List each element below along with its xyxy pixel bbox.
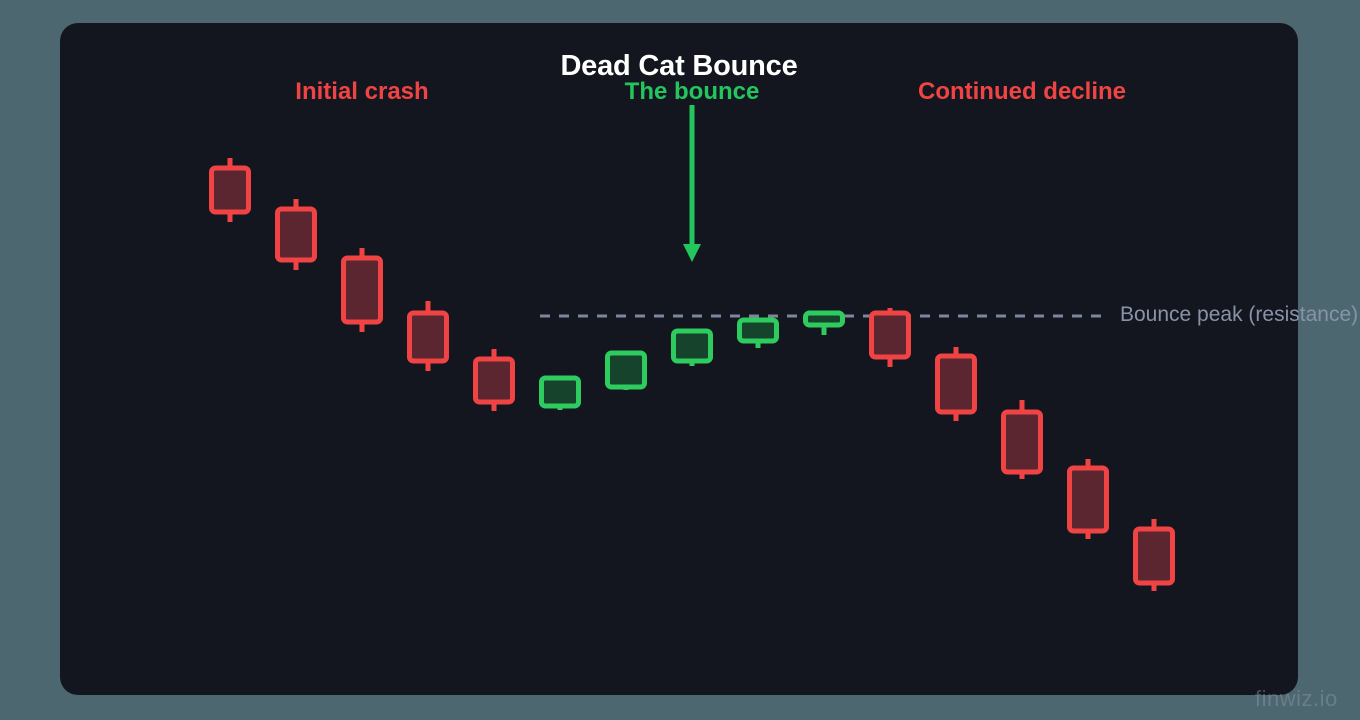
chart-panel: Dead Cat Bounce Initial crash The bounce… [60, 23, 1298, 695]
candle-14-bearish [1070, 459, 1107, 539]
phase-label-initial-crash: Initial crash [295, 78, 428, 106]
candle-body [806, 313, 843, 325]
candle-body [1004, 412, 1041, 472]
resistance-line-label: Bounce peak (resistance) [1120, 303, 1358, 327]
phase-label-the-bounce: The bounce [625, 78, 760, 106]
candle-body [278, 209, 315, 260]
phase-label-continued-decline: Continued decline [918, 78, 1126, 106]
candle-body [212, 168, 249, 212]
chart-plot-clip [60, 23, 1298, 695]
candle-body [1136, 529, 1173, 583]
candle-body [674, 331, 711, 361]
candle-8-bullish [674, 331, 711, 366]
candle-15-bearish [1136, 519, 1173, 591]
candle-11-bearish [872, 308, 909, 367]
candle-body [410, 313, 447, 361]
candle-6-bullish [542, 378, 579, 410]
candle-7-bullish [608, 353, 645, 390]
candle-body [542, 378, 579, 406]
arrow-head-icon [683, 244, 701, 262]
watermark: finwiz.io [1255, 686, 1338, 712]
candle-body [740, 320, 777, 341]
candle-3-bearish [344, 248, 381, 332]
bounce-down-arrow [683, 105, 701, 262]
candle-body [1070, 468, 1107, 531]
candle-1-bearish [212, 158, 249, 222]
candle-body [476, 359, 513, 402]
candle-9-bullish [740, 320, 777, 348]
candle-4-bearish [410, 301, 447, 371]
candle-12-bearish [938, 347, 975, 421]
candle-body [872, 313, 909, 357]
candle-5-bearish [476, 349, 513, 411]
candlestick-plot [60, 23, 1298, 695]
candle-body [608, 353, 645, 387]
candle-body [344, 258, 381, 322]
candle-13-bearish [1004, 400, 1041, 479]
candle-10-bullish [806, 312, 843, 335]
candle-body [938, 356, 975, 412]
candle-2-bearish [278, 199, 315, 270]
